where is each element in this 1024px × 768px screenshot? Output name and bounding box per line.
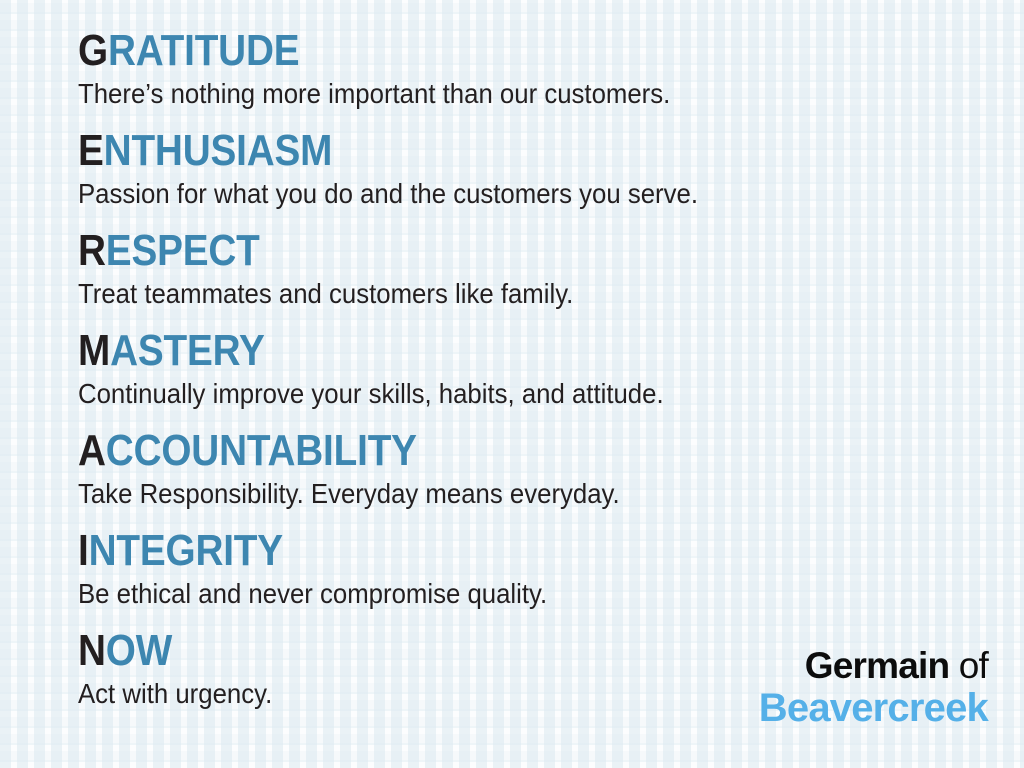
value-block-respect: RESPECT Treat teammates and customers li… — [78, 228, 978, 328]
value-description-accountability: Take Responsibility. Everyday means ever… — [78, 474, 906, 512]
value-rest-respect: ESPECT — [106, 226, 260, 275]
value-description-mastery: Continually improve your skills, habits,… — [78, 374, 906, 412]
value-block-gratitude: GRATITUDE There’s nothing more important… — [78, 28, 978, 128]
value-word-mastery: MASTERY — [78, 328, 870, 374]
value-rest-gratitude: RATITUDE — [108, 26, 299, 75]
core-values-list: GRATITUDE There’s nothing more important… — [78, 28, 978, 728]
value-rest-mastery: ASTERY — [110, 326, 265, 375]
value-word-accountability: ACCOUNTABILITY — [78, 428, 870, 474]
value-description-gratitude: There’s nothing more important than our … — [78, 74, 906, 112]
value-block-enthusiasm: ENTHUSIASM Passion for what you do and t… — [78, 128, 978, 228]
value-initial-respect: R — [78, 226, 106, 275]
value-rest-now: OW — [106, 626, 172, 675]
value-rest-accountability: CCOUNTABILITY — [106, 426, 417, 475]
logo-connector: of — [949, 645, 988, 686]
value-initial-accountability: A — [78, 426, 106, 475]
logo-line-primary: Germain of — [759, 645, 988, 686]
value-initial-now: N — [78, 626, 106, 675]
value-rest-enthusiasm: NTHUSIASM — [104, 126, 333, 175]
value-block-accountability: ACCOUNTABILITY Take Responsibility. Ever… — [78, 428, 978, 528]
value-initial-mastery: M — [78, 326, 110, 375]
value-word-integrity: INTEGRITY — [78, 528, 870, 574]
value-initial-gratitude: G — [78, 26, 108, 75]
value-description-enthusiasm: Passion for what you do and the customer… — [78, 174, 906, 212]
values-poster: GRATITUDE There’s nothing more important… — [0, 0, 1024, 768]
logo-brand-name: Germain — [805, 645, 950, 686]
value-block-mastery: MASTERY Continually improve your skills,… — [78, 328, 978, 428]
logo-location-name: Beavercreek — [759, 686, 988, 730]
value-rest-integrity: NTEGRITY — [89, 526, 283, 575]
value-description-integrity: Be ethical and never compromise quality. — [78, 574, 906, 612]
value-initial-enthusiasm: E — [78, 126, 104, 175]
value-description-respect: Treat teammates and customers like famil… — [78, 274, 906, 312]
value-word-now: NOW — [78, 628, 870, 674]
dealership-logo: Germain of Beavercreek — [759, 645, 988, 730]
poster-content: GRATITUDE There’s nothing more important… — [0, 0, 1024, 768]
value-block-integrity: INTEGRITY Be ethical and never compromis… — [78, 528, 978, 628]
value-word-gratitude: GRATITUDE — [78, 28, 870, 74]
value-word-enthusiasm: ENTHUSIASM — [78, 128, 870, 174]
value-initial-integrity: I — [78, 526, 89, 575]
value-word-respect: RESPECT — [78, 228, 870, 274]
